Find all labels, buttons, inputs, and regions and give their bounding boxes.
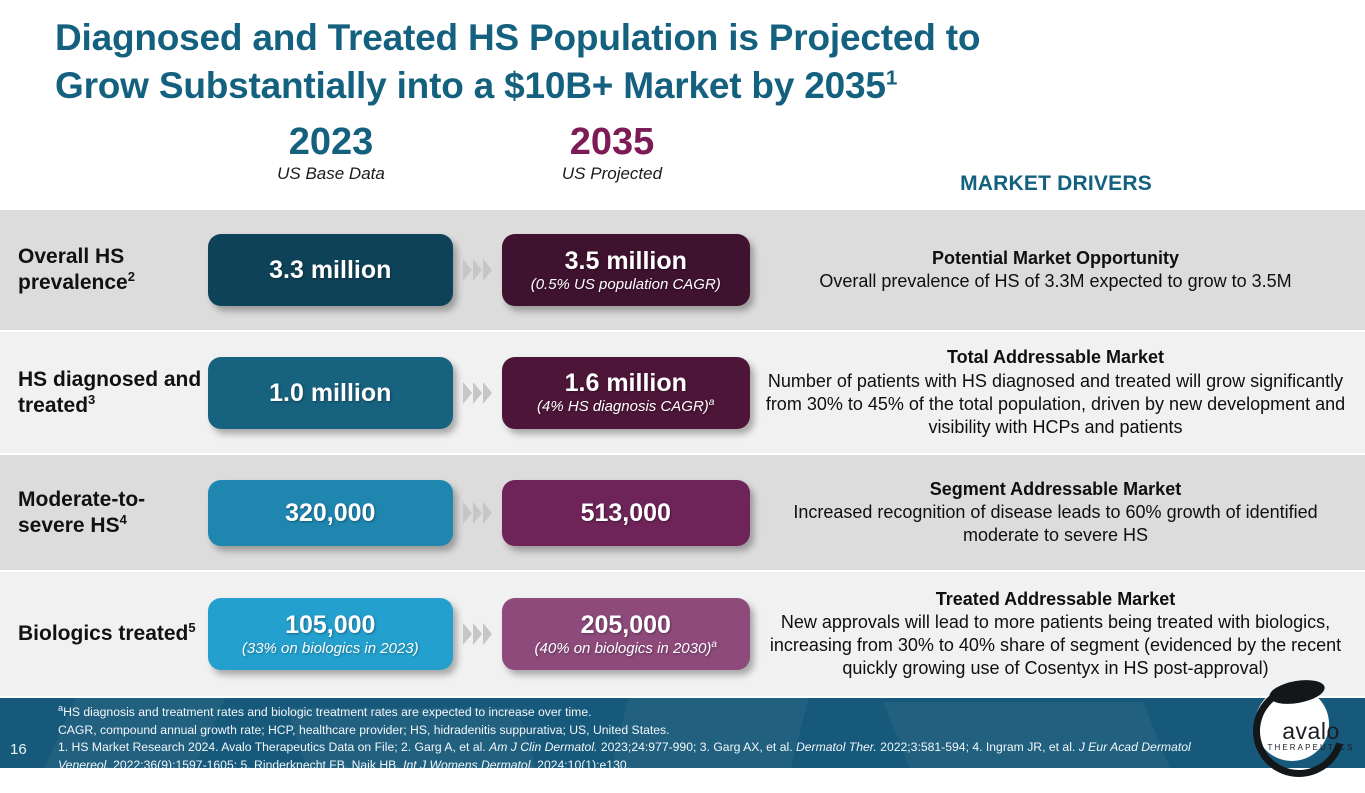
- market-driver-title: Potential Market Opportunity: [756, 247, 1355, 270]
- data-row: Biologics treated5105,000(33% on biologi…: [0, 572, 1365, 696]
- projected-value-pill: 513,000: [502, 480, 750, 546]
- chevron-right-icon: [483, 382, 492, 404]
- column-header-base-year: 2023 US Base Data: [207, 123, 455, 184]
- row-label: Moderate-to-severe HS4: [0, 487, 205, 538]
- footnote-line-1: aHS diagnosis and treatment rates and bi…: [58, 704, 1233, 722]
- pill-value: 320,000: [285, 499, 375, 527]
- base-value-pill: 105,000(33% on biologics in 2023): [208, 598, 453, 670]
- base-value-pill: 3.3 million: [208, 234, 453, 306]
- page-title: Diagnosed and Treated HS Population is P…: [55, 14, 1305, 109]
- pill-value: 3.5 million: [565, 247, 687, 275]
- logo-tagline: THERAPEUTICS: [1265, 743, 1357, 752]
- row-label-superscript: 4: [120, 512, 127, 527]
- projected-value-pill: 3.5 million(0.5% US population CAGR): [502, 234, 750, 306]
- pill-value: 3.3 million: [269, 256, 391, 284]
- footnotes: aHS diagnosis and treatment rates and bi…: [58, 704, 1233, 768]
- market-driver-body: Number of patients with HS diagnosed and…: [756, 370, 1355, 439]
- column-header-projected-year-value: 2035: [488, 123, 736, 163]
- market-driver-title: Total Addressable Market: [756, 346, 1355, 369]
- slide-footer: 16 aHS diagnosis and treatment rates and…: [0, 698, 1365, 768]
- page-title-line-1: Diagnosed and Treated HS Population is P…: [55, 17, 980, 58]
- column-header-base-year-caption: US Base Data: [207, 164, 455, 184]
- column-header-base-year-value: 2023: [207, 123, 455, 163]
- column-header-market-drivers: MARKET DRIVERS: [760, 172, 1352, 196]
- pill-value: 1.6 million: [565, 369, 687, 397]
- growth-chevrons: [453, 502, 502, 524]
- growth-chevrons: [453, 623, 502, 645]
- market-driver-title: Treated Addressable Market: [756, 588, 1355, 611]
- column-header-projected-year-caption: US Projected: [488, 164, 736, 184]
- page-title-line-2: Grow Substantially into a $10B+ Market b…: [55, 65, 886, 106]
- market-driver: Treated Addressable MarketNew approvals …: [750, 588, 1365, 680]
- avalo-logo: avalo THERAPEUTICS: [1247, 693, 1359, 768]
- row-label-text: HS diagnosed and treated: [18, 368, 201, 417]
- logo-wordmark: avalo: [1265, 720, 1357, 743]
- pill-note: (33% on biologics in 2023): [242, 640, 419, 657]
- footnote-line-2: CAGR, compound annual growth rate; HCP, …: [58, 722, 1233, 740]
- data-row: Moderate-to-severe HS4320,000513,000Segm…: [0, 455, 1365, 570]
- pill-note-superscript: a: [709, 397, 715, 408]
- column-header-projected-year: 2035 US Projected: [488, 123, 736, 184]
- market-driver: Potential Market OpportunityOverall prev…: [750, 247, 1365, 293]
- growth-chevrons: [453, 382, 502, 404]
- pill-note-text: (0.5% US population CAGR): [531, 276, 721, 293]
- pill-note-text: (4% HS diagnosis CAGR): [537, 398, 709, 415]
- pill-note: (4% HS diagnosis CAGR)a: [537, 398, 714, 415]
- pill-note-superscript: a: [711, 639, 717, 650]
- pill-value: 105,000: [285, 611, 375, 639]
- chevron-right-icon: [463, 623, 472, 645]
- value-pills: 105,000(33% on biologics in 2023)205,000…: [205, 598, 750, 670]
- footnote-references: 1. HS Market Research 2024. Avalo Therap…: [58, 739, 1233, 768]
- pill-note: (40% on biologics in 2030)a: [535, 640, 717, 657]
- data-row: HS diagnosed and treated31.0 million1.6 …: [0, 332, 1365, 453]
- market-driver: Segment Addressable MarketIncreased reco…: [750, 478, 1365, 547]
- chevron-right-icon: [473, 623, 482, 645]
- market-driver: Total Addressable MarketNumber of patien…: [750, 346, 1365, 438]
- market-driver-body: New approvals will lead to more patients…: [756, 611, 1355, 680]
- pill-note: (0.5% US population CAGR): [531, 276, 721, 293]
- row-label-text: Biologics treated: [18, 622, 188, 645]
- data-row: Overall HS prevalence23.3 million3.5 mil…: [0, 210, 1365, 330]
- chevron-right-icon: [473, 259, 482, 281]
- chevron-right-icon: [483, 259, 492, 281]
- chevron-right-icon: [473, 502, 482, 524]
- market-driver-body: Overall prevalence of HS of 3.3M expecte…: [756, 270, 1355, 293]
- chevron-right-icon: [483, 502, 492, 524]
- pill-note-text: (33% on biologics in 2023): [242, 640, 419, 657]
- pill-value: 1.0 million: [269, 379, 391, 407]
- projected-value-pill: 1.6 million(4% HS diagnosis CAGR)a: [502, 357, 750, 429]
- base-value-pill: 320,000: [208, 480, 453, 546]
- projected-value-pill: 205,000(40% on biologics in 2030)a: [502, 598, 750, 670]
- slide-canvas: Diagnosed and Treated HS Population is P…: [0, 0, 1365, 768]
- pill-value: 205,000: [581, 611, 671, 639]
- base-value-pill: 1.0 million: [208, 357, 453, 429]
- row-label: Biologics treated5: [0, 621, 205, 647]
- growth-chevrons: [453, 259, 502, 281]
- chevron-right-icon: [483, 623, 492, 645]
- page-number: 16: [10, 741, 27, 758]
- row-label: HS diagnosed and treated3: [0, 367, 205, 418]
- pill-value: 513,000: [581, 499, 671, 527]
- page-title-superscript: 1: [886, 66, 897, 89]
- chevron-right-icon: [463, 502, 472, 524]
- chevron-right-icon: [473, 382, 482, 404]
- value-pills: 320,000513,000: [205, 480, 750, 546]
- row-label: Overall HS prevalence2: [0, 244, 205, 295]
- pill-note-text: (40% on biologics in 2030): [535, 640, 712, 657]
- value-pills: 3.3 million3.5 million(0.5% US populatio…: [205, 234, 750, 306]
- market-driver-body: Increased recognition of disease leads t…: [756, 501, 1355, 547]
- chevron-right-icon: [463, 382, 472, 404]
- row-label-superscript: 2: [128, 269, 135, 284]
- row-label-text: Overall HS prevalence: [18, 245, 128, 294]
- row-label-superscript: 5: [188, 620, 195, 635]
- row-label-superscript: 3: [88, 392, 95, 407]
- market-driver-title: Segment Addressable Market: [756, 478, 1355, 501]
- chevron-right-icon: [463, 259, 472, 281]
- value-pills: 1.0 million1.6 million(4% HS diagnosis C…: [205, 357, 750, 429]
